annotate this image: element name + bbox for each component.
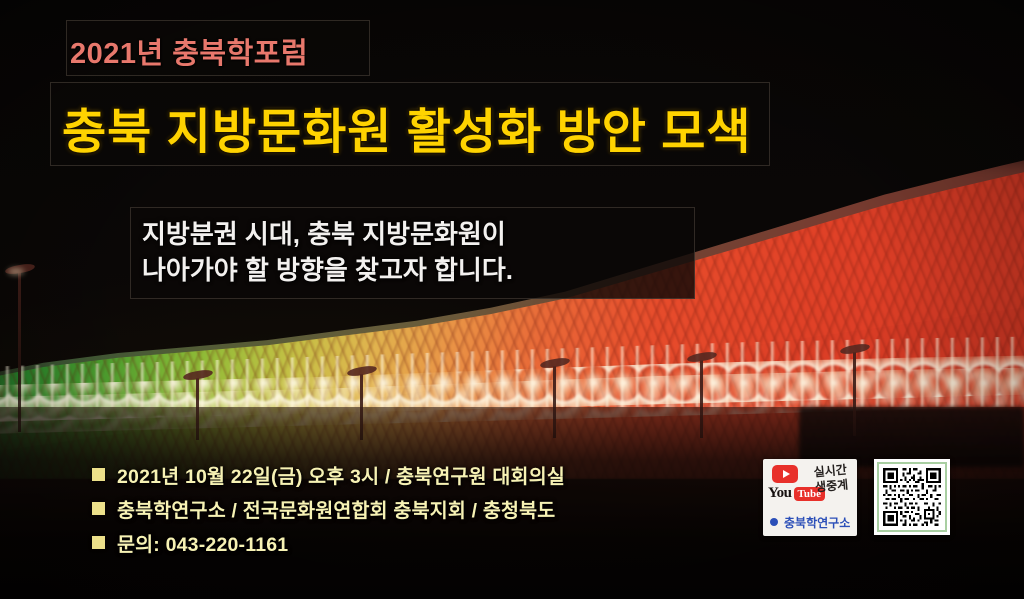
list-item: 2021년 10월 22일(금) 오후 3시 / 충북연구원 대회의실 — [92, 459, 565, 489]
blue-dot-icon — [770, 518, 778, 526]
youtube-live-card[interactable]: You Tube 실시간 생중계 충북학연구소 — [763, 459, 857, 536]
street-lamp-left — [18, 272, 21, 432]
play-triangle-icon — [783, 470, 790, 478]
street-lamp-right-b — [700, 360, 703, 438]
street-lamp-right-c — [853, 352, 856, 436]
event-info-list: 2021년 10월 22일(금) 오후 3시 / 충북연구원 대회의실 충북학연… — [92, 459, 565, 561]
square-bullet-icon — [92, 502, 105, 515]
list-item: 충북학연구소 / 전국문화원연합회 충북지회 / 충청북도 — [92, 493, 565, 523]
info-organizers: 충북학연구소 / 전국문화원연합회 충북지회 / 충청북도 — [117, 494, 555, 523]
event-poster: 2021년 충북학포럼 충북 지방문화원 활성화 방안 모색 지방분권 시대, … — [0, 0, 1024, 599]
youtube-card-top: You Tube 실시간 생중계 — [763, 459, 857, 509]
square-bullet-icon — [92, 536, 105, 549]
youtube-play-icon — [772, 465, 798, 483]
street-lamp-right-a — [553, 366, 556, 438]
info-datetime-venue: 2021년 10월 22일(금) 오후 3시 / 충북연구원 대회의실 — [117, 460, 565, 489]
poster-subtitle: 2021년 충북학포럼 — [70, 30, 308, 72]
body-line-1: 지방분권 시대, 충북 지방문화원이 — [142, 216, 513, 252]
qr-inner-frame — [877, 462, 947, 532]
youtube-channel-row: 충북학연구소 — [763, 509, 857, 535]
poster-title: 충북 지방문화원 활성화 방안 모색 — [62, 92, 752, 162]
street-lamp-center — [360, 374, 363, 440]
live-note-line-2: 생중계 — [809, 477, 854, 496]
info-contact: 문의: 043-220-1161 — [117, 528, 288, 557]
street-lamp-mid — [196, 378, 199, 440]
square-bullet-icon — [92, 468, 105, 481]
live-broadcast-note: 실시간 생중계 — [808, 462, 854, 496]
body-line-2: 나아가야 할 방향을 찾고자 합니다. — [142, 252, 513, 288]
youtube-you-text: You — [768, 485, 792, 502]
poster-body: 지방분권 시대, 충북 지방문화원이 나아가야 할 방향을 찾고자 합니다. — [142, 216, 513, 288]
lamp-head-glow — [8, 268, 24, 275]
list-item: 문의: 043-220-1161 — [92, 527, 565, 557]
qr-code-image — [881, 466, 943, 528]
channel-name: 충북학연구소 — [784, 514, 850, 531]
qr-code[interactable] — [874, 459, 950, 535]
